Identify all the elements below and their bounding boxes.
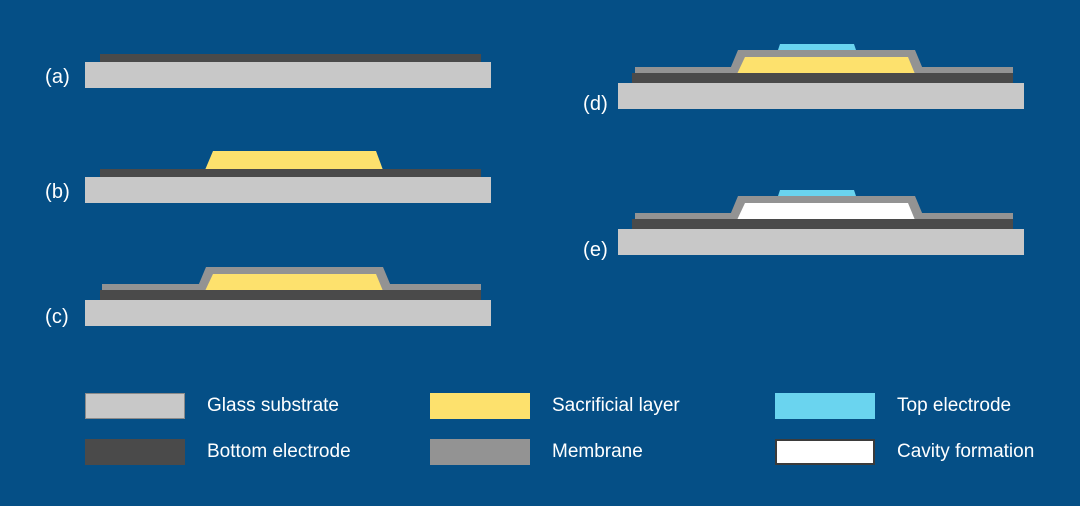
legend-item-sacrificial-layer: Sacrificial layer <box>430 393 680 419</box>
panel-label-e: (e) <box>583 239 608 262</box>
panel-e-membrane-right-flat <box>913 213 1013 220</box>
panel-c-membrane-right-flat <box>381 284 481 291</box>
legend-swatch-cavity-formation <box>775 439 875 465</box>
legend-item-bottom-electrode: Bottom electrode <box>85 439 351 465</box>
legend-item-glass-substrate: Glass substrate <box>85 393 339 419</box>
panel-d-glass-substrate <box>618 83 1024 109</box>
panel-c-bottom-electrode <box>100 290 481 301</box>
panel-b-glass-substrate <box>85 177 491 203</box>
panel-a-bottom-electrode <box>100 54 481 63</box>
panel-label-b: (b) <box>45 181 70 204</box>
legend-swatch-sacrificial-layer <box>430 393 530 419</box>
panel-e-cavity <box>737 203 915 220</box>
legend-item-membrane: Membrane <box>430 439 643 465</box>
legend-label-bottom-electrode: Bottom electrode <box>207 441 351 463</box>
panel-d-bottom-electrode <box>632 73 1013 84</box>
legend-swatch-top-electrode <box>775 393 875 419</box>
legend-label-sacrificial-layer: Sacrificial layer <box>552 395 680 417</box>
panel-d-membrane-right-flat <box>913 67 1013 74</box>
panel-a-glass-substrate <box>85 62 491 88</box>
legend-label-membrane: Membrane <box>552 441 643 463</box>
panel-d-diagram <box>618 44 1024 109</box>
legend-item-top-electrode: Top electrode <box>775 393 1011 419</box>
panel-e-bottom-electrode <box>632 219 1013 230</box>
legend-swatch-membrane <box>430 439 530 465</box>
panel-c-sacrificial-layer <box>205 274 383 291</box>
process-flow-figure: (a) (b) (c) (d) (e) Glass substrate Bott… <box>0 0 1080 506</box>
legend-item-cavity-formation: Cavity formation <box>775 439 1034 465</box>
legend-label-top-electrode: Top electrode <box>897 395 1011 417</box>
legend-swatch-bottom-electrode <box>85 439 185 465</box>
legend-label-glass-substrate: Glass substrate <box>207 395 339 417</box>
panel-b-bottom-electrode <box>100 169 481 178</box>
panel-label-c: (c) <box>45 306 69 329</box>
cross-section-stage <box>0 0 1080 506</box>
panel-c-glass-substrate <box>85 300 491 326</box>
legend-label-cavity-formation: Cavity formation <box>897 441 1034 463</box>
panel-b-diagram <box>85 151 491 203</box>
panel-d-sacrificial-layer <box>737 57 915 74</box>
panel-e-glass-substrate <box>618 229 1024 255</box>
panel-label-d: (d) <box>583 93 608 116</box>
panel-c-membrane-left-flat <box>102 284 202 291</box>
panel-label-a: (a) <box>45 66 70 89</box>
legend-swatch-glass-substrate <box>85 393 185 419</box>
panel-a-diagram <box>85 54 491 88</box>
panel-e-diagram <box>618 190 1024 255</box>
panel-d-membrane-left-flat <box>635 67 734 74</box>
panel-b-sacrificial-layer <box>205 151 383 170</box>
panel-e-membrane-left-flat <box>635 213 734 220</box>
panel-c-diagram <box>85 267 491 326</box>
